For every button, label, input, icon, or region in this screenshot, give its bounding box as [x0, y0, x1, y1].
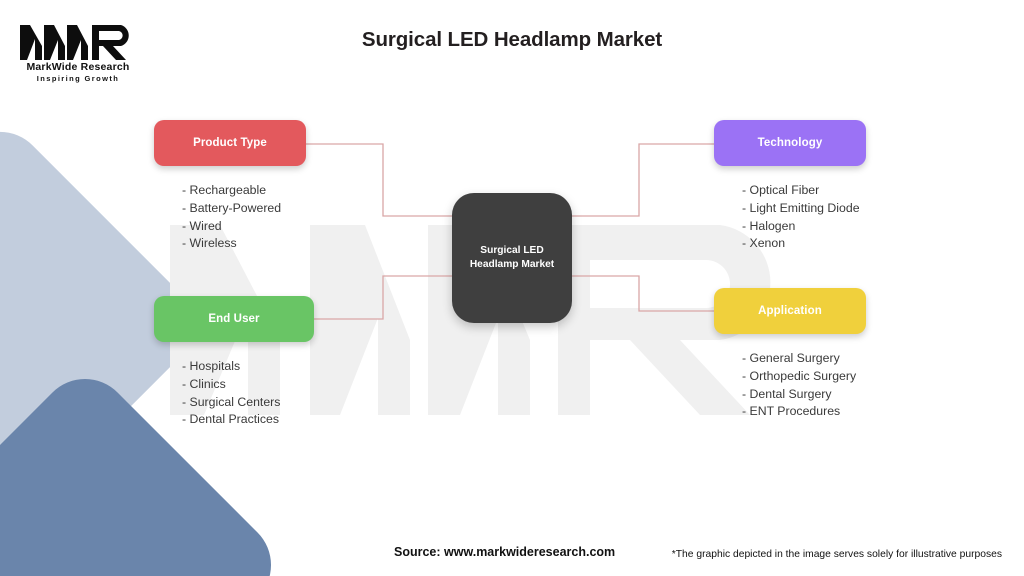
branch-application: Application - General Surgery - Orthoped… [714, 288, 866, 421]
list-item: - Battery-Powered [182, 200, 306, 218]
list-item: - Wired [182, 218, 306, 236]
center-node-line2: Headlamp Market [470, 259, 554, 270]
list-item: - Light Emitting Diode [742, 200, 866, 218]
center-node[interactable]: Surgical LED Headlamp Market [452, 193, 572, 323]
center-node-line1: Surgical LED [480, 245, 543, 256]
branch-product-type-header[interactable]: Product Type [154, 120, 306, 166]
list-item: - Dental Surgery [742, 386, 866, 404]
footer-disclaimer: *The graphic depicted in the image serve… [672, 549, 1002, 560]
branch-end-user: End User - Hospitals - Clinics - Surgica… [154, 296, 314, 429]
list-item: - Surgical Centers [182, 394, 314, 412]
branch-technology-header[interactable]: Technology [714, 120, 866, 166]
footer-source[interactable]: Source: www.markwideresearch.com [394, 545, 615, 559]
list-item: - Orthopedic Surgery [742, 368, 866, 386]
list-item: - Halogen [742, 218, 866, 236]
list-item: - Dental Practices [182, 411, 314, 429]
branch-end-user-label: End User [208, 313, 259, 325]
connector-product-type [306, 144, 456, 216]
list-item: - ENT Procedures [742, 403, 866, 421]
branch-technology: Technology - Optical Fiber - Light Emitt… [714, 120, 866, 253]
list-item: - Optical Fiber [742, 182, 866, 200]
list-item: - Xenon [742, 235, 866, 253]
list-item: - Hospitals [182, 358, 314, 376]
branch-product-type-label: Product Type [193, 137, 267, 149]
list-item: - General Surgery [742, 350, 866, 368]
connector-technology [568, 144, 714, 216]
branch-application-header[interactable]: Application [714, 288, 866, 334]
branch-end-user-list: - Hospitals - Clinics - Surgical Centers… [154, 358, 314, 429]
branch-application-label: Application [758, 305, 822, 317]
center-node-label: Surgical LED Headlamp Market [470, 244, 554, 272]
connector-end-user [314, 276, 456, 319]
branch-technology-label: Technology [758, 137, 823, 149]
connector-application [568, 276, 714, 311]
branch-product-type-list: - Rechargeable - Battery-Powered - Wired… [154, 182, 306, 253]
list-item: - Rechargeable [182, 182, 306, 200]
list-item: - Wireless [182, 235, 306, 253]
list-item: - Clinics [182, 376, 314, 394]
branch-technology-list: - Optical Fiber - Light Emitting Diode -… [714, 182, 866, 253]
branch-product-type: Product Type - Rechargeable - Battery-Po… [154, 120, 306, 253]
infographic-canvas: MarkWide Research Inspiring Growth Surgi… [0, 0, 1024, 576]
branch-end-user-header[interactable]: End User [154, 296, 314, 342]
branch-application-list: - General Surgery - Orthopedic Surgery -… [714, 350, 866, 421]
